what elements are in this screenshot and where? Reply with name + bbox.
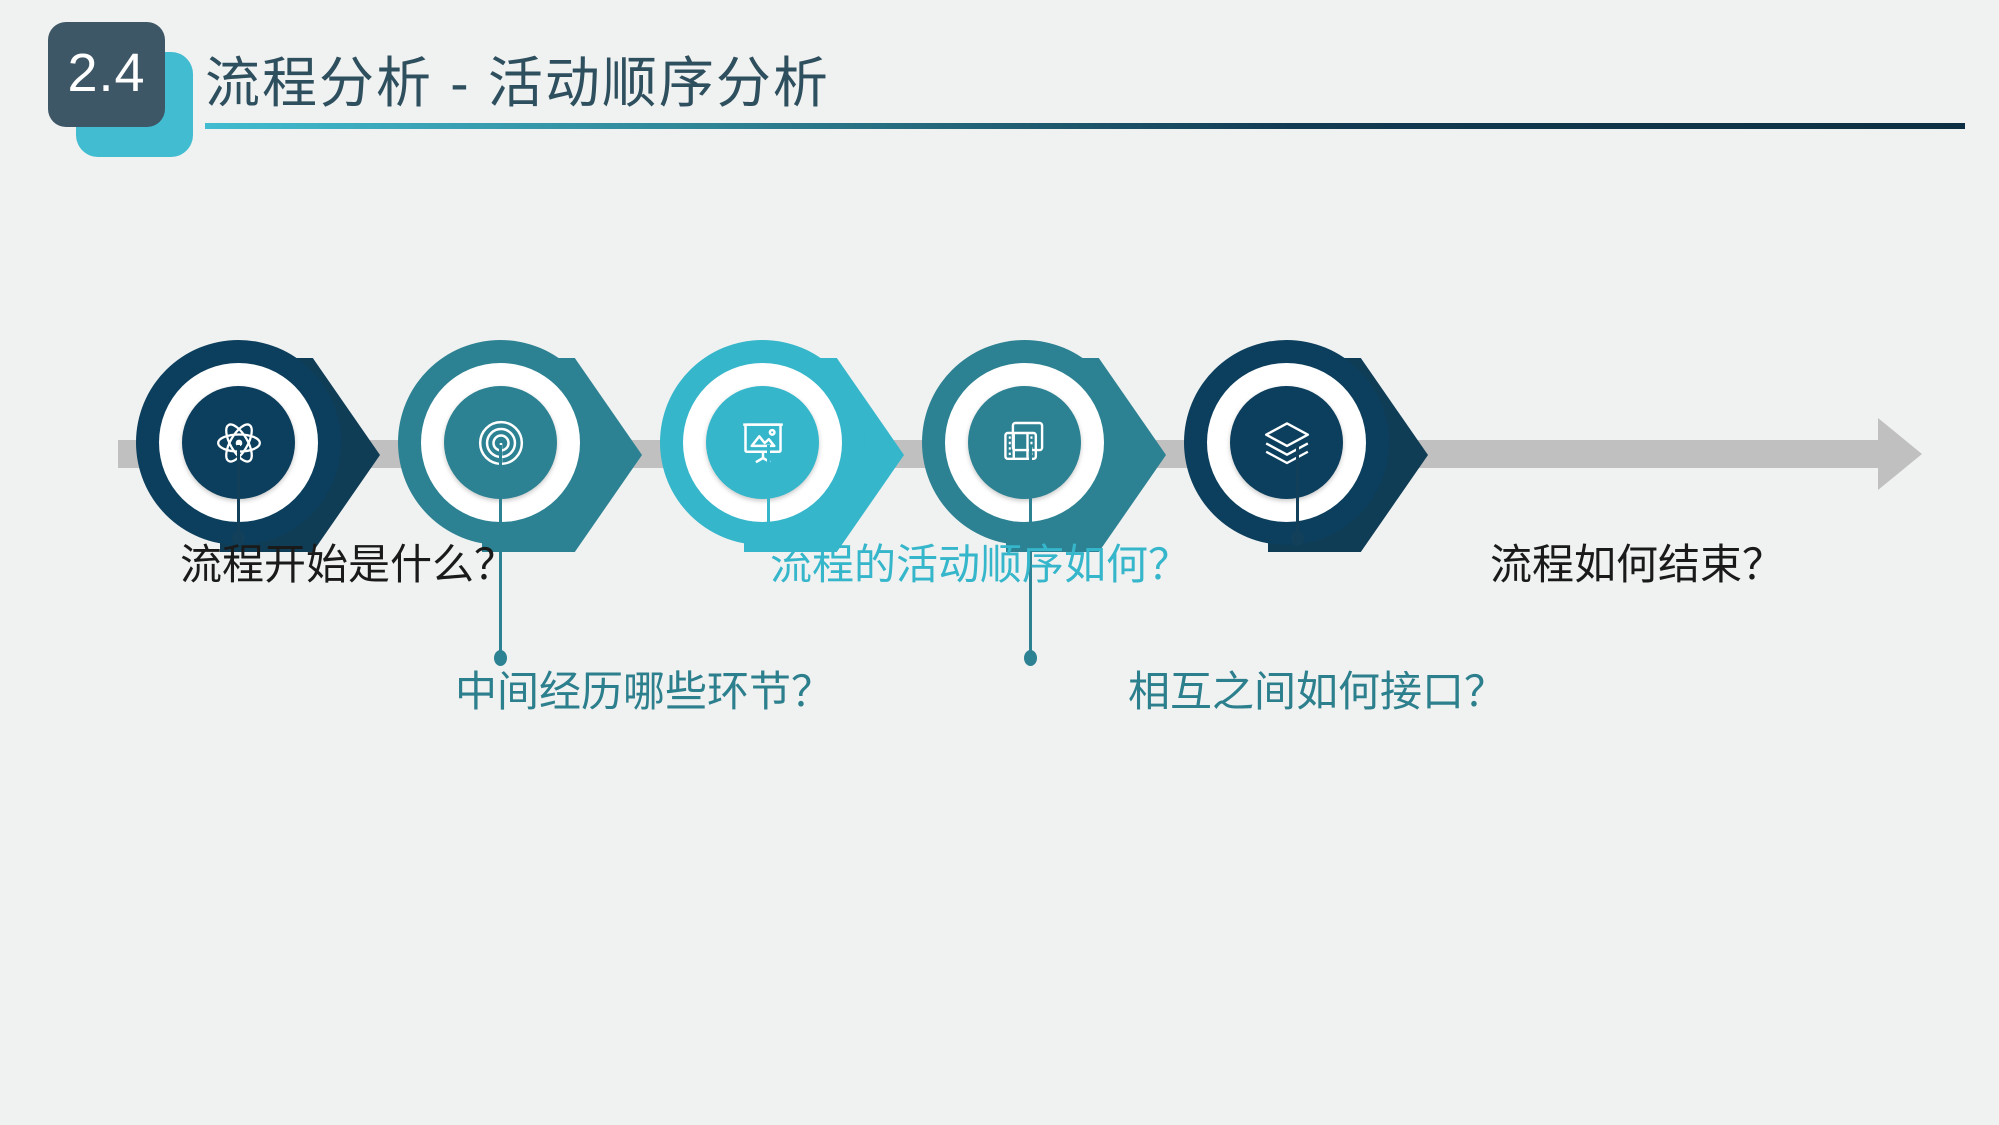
step-3-icon-core <box>706 386 819 499</box>
step-5-connector-dot <box>1291 530 1304 546</box>
step-4-label: 相互之间如何接口？ <box>1128 672 1506 714</box>
presentation-image-icon <box>738 418 788 468</box>
step-5-connector-line <box>1296 445 1299 540</box>
film-strip-icon <box>1000 418 1050 468</box>
step-5-outer-ring <box>1184 340 1389 545</box>
layers-stack-icon <box>1262 418 1312 468</box>
step-4-icon-core <box>968 386 1081 499</box>
step-3-outer-ring <box>660 340 865 545</box>
step-4-connector-dot <box>1024 650 1037 666</box>
process-step-1[interactable] <box>136 340 366 570</box>
process-step-3[interactable] <box>660 340 890 570</box>
process-step-4[interactable] <box>922 340 1152 570</box>
step-5-icon-core <box>1230 386 1343 499</box>
step-5-label: 流程如何结束？ <box>1490 545 1784 587</box>
step-1-connector-line <box>237 445 240 540</box>
process-step-2[interactable] <box>398 340 628 570</box>
step-1-label: 流程开始是什么？ <box>180 545 516 587</box>
step-4-outer-ring <box>922 340 1127 545</box>
step-3-connector-line <box>767 445 770 540</box>
track-arrow-head-icon <box>1878 418 1922 490</box>
step-2-connector-dot <box>494 650 507 666</box>
step-3-label: 流程的活动顺序如何？ <box>770 545 1190 587</box>
step-2-label: 中间经历哪些环节？ <box>455 672 833 714</box>
